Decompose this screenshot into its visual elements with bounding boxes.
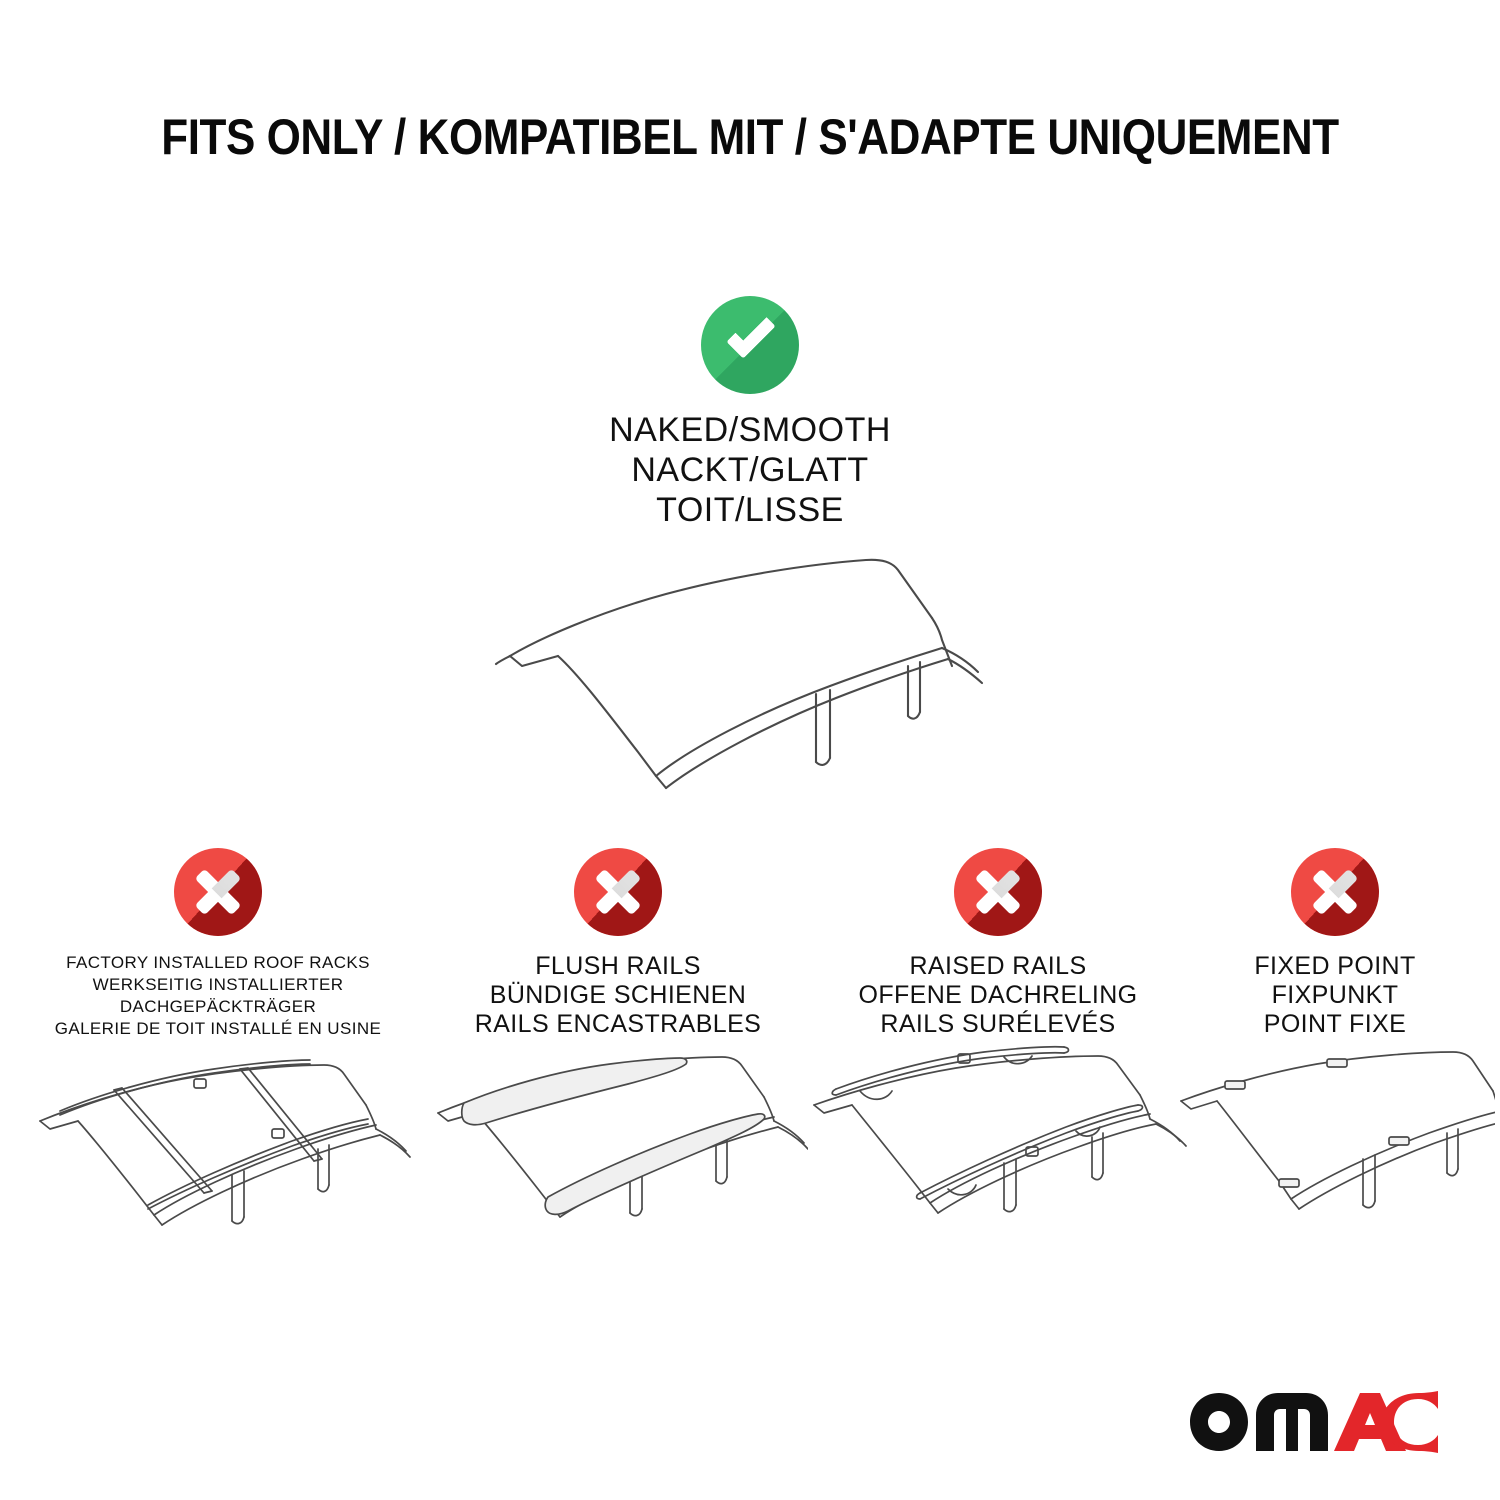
incompatible-item-fixed-point: FIXED POINT FIXPUNKT POINT FIXE bbox=[1180, 848, 1490, 1039]
car-roof-naked-smooth-illustration bbox=[470, 526, 1050, 816]
compatible-label-line-2: NACKT/GLATT bbox=[0, 450, 1500, 490]
x-circle-icon bbox=[174, 848, 262, 936]
incompatible-label-4: FIXED POINT FIXPUNKT POINT FIXE bbox=[1180, 952, 1490, 1039]
incompatible-label-1-line-4: GALERIE DE TOIT INSTALLÉ EN USINE bbox=[18, 1018, 418, 1040]
incompatible-label-3-line-2: OFFENE DACHRELING bbox=[818, 981, 1178, 1010]
compatible-label-line-3: TOIT/LISSE bbox=[0, 490, 1500, 530]
incompatible-item-raised-rails: RAISED RAILS OFFENE DACHRELING RAILS SUR… bbox=[818, 848, 1178, 1039]
omac-logo bbox=[1188, 1392, 1438, 1452]
incompatible-label-3-line-1: RAISED RAILS bbox=[818, 952, 1178, 981]
car-roof-flush-rails-illustration bbox=[428, 1043, 808, 1253]
compatible-section: NAKED/SMOOTH NACKT/GLATT TOIT/LISSE bbox=[0, 296, 1500, 530]
x-badge-wrap-2 bbox=[438, 848, 798, 936]
incompatible-label-3: RAISED RAILS OFFENE DACHRELING RAILS SUR… bbox=[818, 952, 1178, 1039]
car-roof-raised-rails-illustration bbox=[808, 1043, 1188, 1253]
incompatible-label-4-line-2: FIXPUNKT bbox=[1180, 981, 1490, 1010]
x-circle-icon bbox=[574, 848, 662, 936]
check-badge-wrap bbox=[0, 296, 1500, 394]
incompatible-item-factory-installed-roof-racks: FACTORY INSTALLED ROOF RACKS WERKSEITIG … bbox=[18, 848, 418, 1040]
incompatible-label-1-line-2: WERKSEITIG INSTALLIERTER bbox=[18, 974, 418, 996]
incompatible-label-2-line-1: FLUSH RAILS bbox=[438, 952, 798, 981]
incompatible-label-2-line-2: BÜNDIGE SCHIENEN bbox=[438, 981, 798, 1010]
x-badge-wrap-4 bbox=[1180, 848, 1490, 936]
omac-logo-svg bbox=[1188, 1391, 1438, 1453]
compatible-label: NAKED/SMOOTH NACKT/GLATT TOIT/LISSE bbox=[0, 410, 1500, 530]
x-badge-wrap-1 bbox=[18, 848, 418, 936]
check-circle-icon bbox=[701, 296, 799, 394]
incompatible-item-flush-rails: FLUSH RAILS BÜNDIGE SCHIENEN RAILS ENCAS… bbox=[438, 848, 798, 1039]
x-circle-icon bbox=[954, 848, 1042, 936]
page-title: FITS ONLY / KOMPATIBEL MIT / S'ADAPTE UN… bbox=[90, 108, 1410, 166]
car-roof-factory-racks-illustration bbox=[18, 1043, 418, 1253]
incompatible-label-2: FLUSH RAILS BÜNDIGE SCHIENEN RAILS ENCAS… bbox=[438, 952, 798, 1039]
incompatible-section: FACTORY INSTALLED ROOF RACKS WERKSEITIG … bbox=[0, 848, 1500, 1268]
incompatible-label-1-line-1: FACTORY INSTALLED ROOF RACKS bbox=[18, 952, 418, 974]
car-roof-fixed-point-illustration bbox=[1175, 1043, 1495, 1253]
x-badge-wrap-3 bbox=[818, 848, 1178, 936]
incompatible-label-2-line-3: RAILS ENCASTRABLES bbox=[438, 1010, 798, 1039]
incompatible-label-4-line-1: FIXED POINT bbox=[1180, 952, 1490, 981]
incompatible-label-3-line-3: RAILS SURÉLEVÉS bbox=[818, 1010, 1178, 1039]
compatible-label-line-1: NAKED/SMOOTH bbox=[0, 410, 1500, 450]
x-circle-icon bbox=[1291, 848, 1379, 936]
incompatible-label-4-line-3: POINT FIXE bbox=[1180, 1010, 1490, 1039]
incompatible-label-1: FACTORY INSTALLED ROOF RACKS WERKSEITIG … bbox=[18, 952, 418, 1040]
incompatible-label-1-line-3: DACHGEPÄCKTRÄGER bbox=[18, 996, 418, 1018]
